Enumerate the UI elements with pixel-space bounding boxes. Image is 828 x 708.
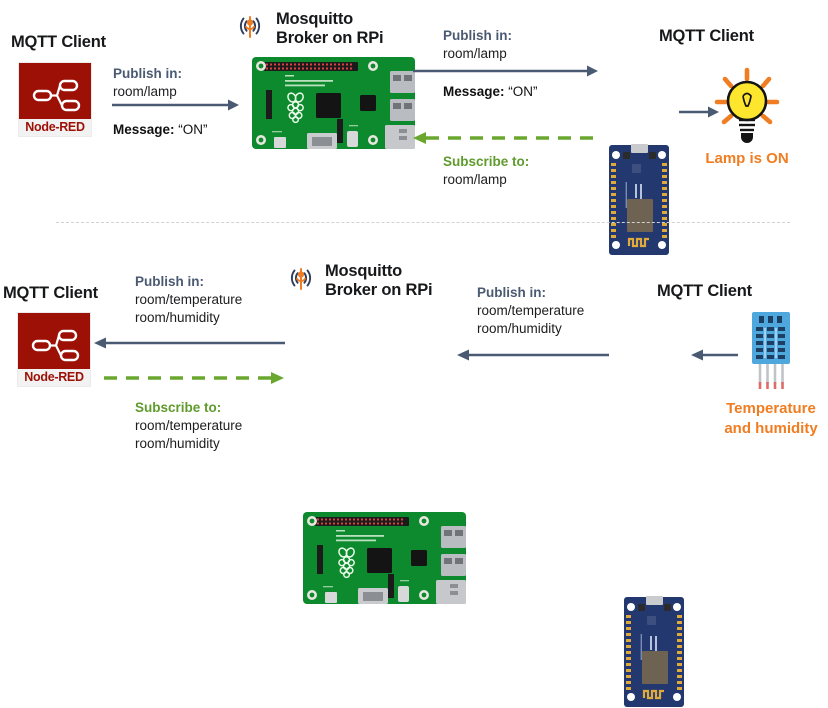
- top-right-publish-label: Publish in:: [443, 26, 512, 46]
- bottom-left-subscribe-label: Subscribe to:: [135, 398, 221, 418]
- top-left-nodered-logo: Node-RED: [18, 62, 92, 137]
- bottom-left-publish-topic1: room/temperature: [135, 290, 242, 310]
- bottom-left-client-heading: MQTT Client: [3, 284, 98, 303]
- bottom-left-nodered-logo: Node-RED: [17, 312, 91, 387]
- light-bulb-icon: [713, 68, 781, 144]
- top-nodemcu-board: [608, 144, 670, 256]
- top-left-publish-arrow: [112, 98, 240, 112]
- nodered-plate: [19, 63, 91, 119]
- top-right-subscribe-arrow: [412, 131, 598, 145]
- bottom-left-subscribe-arrow: [104, 371, 284, 385]
- bottom-broker-heading-line2: Broker on RPi: [325, 281, 432, 300]
- bottom-left-publish-arrow: [93, 336, 285, 350]
- top-right-publish-topic: room/lamp: [443, 44, 507, 64]
- top-left-client-heading: MQTT Client: [11, 33, 106, 52]
- top-left-message: Message: “ON”: [113, 120, 208, 140]
- top-right-message-label: Message:: [443, 84, 505, 99]
- mqtt-antenna-icon: [232, 11, 268, 41]
- bottom-left-publish-label: Publish in:: [135, 272, 204, 292]
- nodered-caption: Node-RED: [19, 119, 91, 136]
- bottom-right-publish-label: Publish in:: [477, 283, 546, 303]
- top-right-subscribe-label: Subscribe to:: [443, 152, 529, 172]
- top-left-publish-label: Publish in:: [113, 64, 182, 84]
- bottom-left-subscribe-topic2: room/humidity: [135, 434, 220, 454]
- nodered-caption: Node-RED: [18, 369, 90, 386]
- top-right-publish-arrow: [413, 64, 599, 78]
- top-right-subscribe-topic: room/lamp: [443, 170, 507, 190]
- dht-sensor-icon: [745, 312, 797, 390]
- top-raspberry-pi-board: [252, 57, 415, 149]
- top-right-message: Message: “ON”: [443, 82, 538, 102]
- bottom-right-publish-arrow: [456, 348, 609, 362]
- bottom-right-publish-topic1: room/temperature: [477, 301, 584, 321]
- top-right-message-value: “ON”: [508, 84, 537, 99]
- bottom-raspberry-pi-board: [303, 512, 466, 604]
- mqtt-antenna-icon: [283, 263, 319, 293]
- top-right-client-heading: MQTT Client: [659, 27, 754, 46]
- top-broker-heading-line1: Mosquitto: [276, 10, 353, 29]
- top-broker-heading-line2: Broker on RPi: [276, 29, 383, 48]
- bottom-right-publish-topic2: room/humidity: [477, 319, 562, 339]
- bottom-nodemcu-board: [623, 596, 685, 708]
- top-left-message-value: “ON”: [178, 122, 207, 137]
- bottom-left-subscribe-topic1: room/temperature: [135, 416, 242, 436]
- bottom-right-client-heading: MQTT Client: [657, 282, 752, 301]
- bottom-left-publish-topic2: room/humidity: [135, 308, 220, 328]
- bottom-broker-heading-line1: Mosquitto: [325, 262, 402, 281]
- lamp-status-caption: Lamp is ON: [701, 149, 793, 169]
- section-divider: [56, 222, 790, 223]
- top-left-message-label: Message:: [113, 122, 175, 137]
- sensor-caption-line1: Temperature: [712, 399, 828, 419]
- nodered-plate: [18, 313, 90, 369]
- bottom-sensor-arrow: [690, 348, 738, 362]
- sensor-caption-line2: and humidity: [712, 419, 828, 439]
